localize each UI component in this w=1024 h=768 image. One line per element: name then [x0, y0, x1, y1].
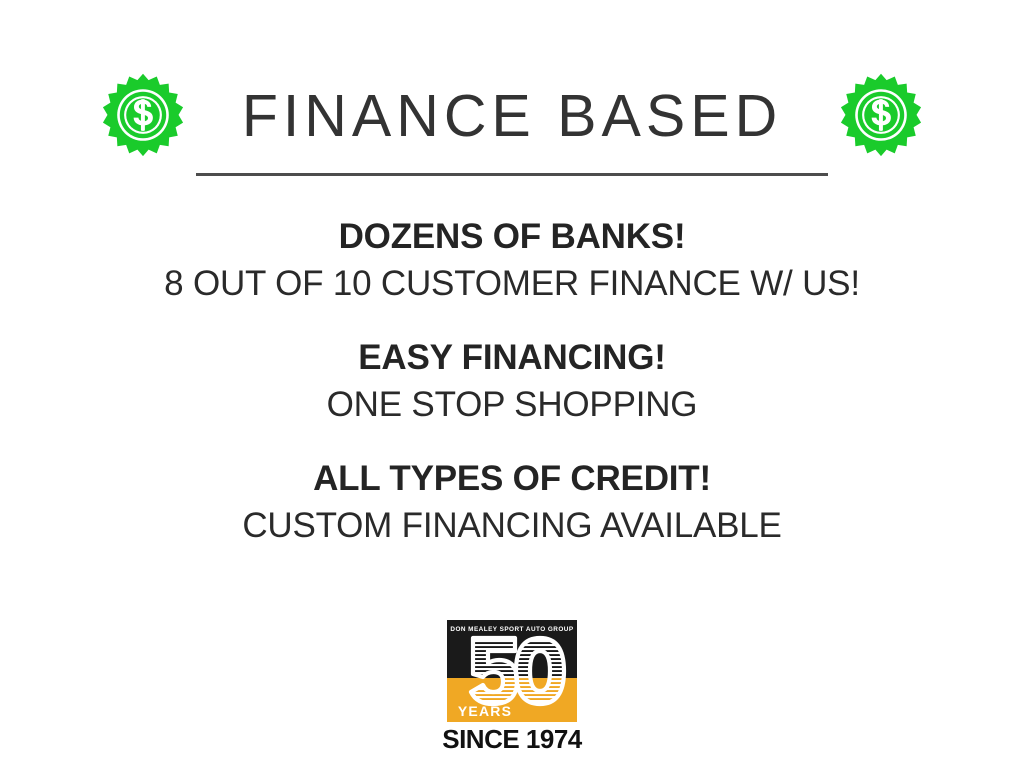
- money-gear-icon: [838, 72, 924, 158]
- message-block: ALL TYPES OF CREDIT! CUSTOM FINANCING AV…: [0, 456, 1024, 550]
- dealer-logo: DON MEALEY SPORT AUTO GROUP YEARS SINCE …: [402, 620, 622, 754]
- message-headline: ALL TYPES OF CREDIT!: [0, 456, 1024, 502]
- message-list: DOZENS OF BANKS! 8 OUT OF 10 CUSTOMER FI…: [0, 214, 1024, 550]
- logo-brand-line: DON MEALEY SPORT AUTO GROUP: [450, 626, 573, 633]
- title-divider: [196, 173, 828, 176]
- header: FINANCE BASED: [0, 72, 1024, 182]
- logo-badge: DON MEALEY SPORT AUTO GROUP YEARS: [447, 620, 577, 722]
- logo-since-label: SINCE 1974: [402, 725, 622, 754]
- message-block: DOZENS OF BANKS! 8 OUT OF 10 CUSTOMER FI…: [0, 214, 1024, 308]
- message-subline: 8 OUT OF 10 CUSTOMER FINANCE W/ US!: [0, 260, 1024, 308]
- message-subline: CUSTOM FINANCING AVAILABLE: [0, 502, 1024, 550]
- message-block: EASY FINANCING! ONE STOP SHOPPING: [0, 335, 1024, 429]
- message-headline: DOZENS OF BANKS!: [0, 214, 1024, 260]
- page-title: FINANCE BASED: [196, 66, 828, 166]
- money-gear-icon: [100, 72, 186, 158]
- message-headline: EASY FINANCING!: [0, 335, 1024, 381]
- logo-years-label: YEARS: [458, 703, 512, 719]
- message-subline: ONE STOP SHOPPING: [0, 381, 1024, 429]
